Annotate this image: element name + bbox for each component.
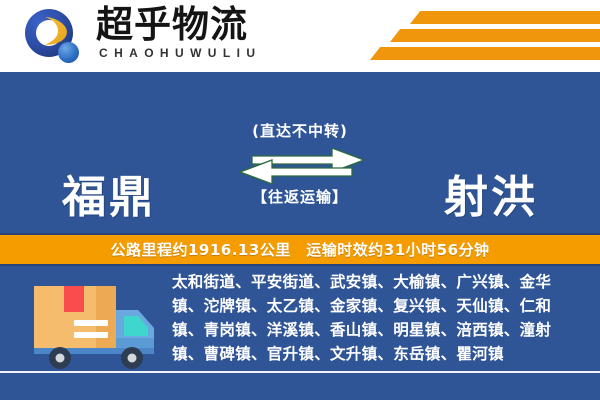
coverage-line: 镇、沱牌镇、太乙镇、金家镇、复兴镇、天仙镇、仁和 [172, 294, 592, 318]
double-headed-arrow-icon [240, 148, 364, 184]
delivery-truck-icon [26, 276, 166, 372]
brand-name-cn: 超乎物流 [96, 4, 248, 46]
coverage-line: 镇、青岗镇、洋溪镇、香山镇、明星镇、涪西镇、潼射 [172, 318, 592, 342]
coverage-panel: 太和街道、平安街道、武安镇、大榆镇、广兴镇、金华 镇、沱牌镇、太乙镇、金家镇、复… [0, 266, 600, 400]
coverage-line: 太和街道、平安街道、武安镇、大榆镇、广兴镇、金华 [172, 270, 592, 294]
direct-service-note: (直达不中转) [0, 120, 600, 141]
coverage-line: 镇、曹碑镇、官升镇、文升镇、东岳镇、瞿河镇 [172, 342, 592, 366]
footer-strip [0, 373, 600, 400]
brand-name-en: CHAOHUWULIU [99, 46, 261, 60]
logo-dot-icon [58, 42, 79, 63]
distance-duration-text: 公路里程约1916.13公里 运输时效约31小时56分钟 [110, 239, 489, 260]
route-panel: 福鼎 射洪 (直达不中转) 【往返运输】 [0, 72, 600, 233]
coverage-town-list: 太和街道、平安街道、武安镇、大榆镇、广兴镇、金华 镇、沱牌镇、太乙镇、金家镇、复… [172, 270, 592, 366]
distance-duration-band: 公路里程约1916.13公里 运输时效约31小时56分钟 [0, 233, 600, 266]
stripe-3 [370, 47, 600, 60]
speed-stripes-icon [330, 8, 600, 66]
logistics-route-poster: 超乎物流 CHAOHUWULIU 福鼎 射洪 (直达不中转) 【往返运输】 公路… [0, 0, 600, 400]
round-trip-note: 【往返运输】 [0, 186, 600, 207]
poster-header: 超乎物流 CHAOHUWULIU [0, 0, 600, 72]
stripe-2 [390, 29, 600, 42]
brand-logo [25, 9, 83, 65]
stripe-1 [410, 11, 600, 24]
